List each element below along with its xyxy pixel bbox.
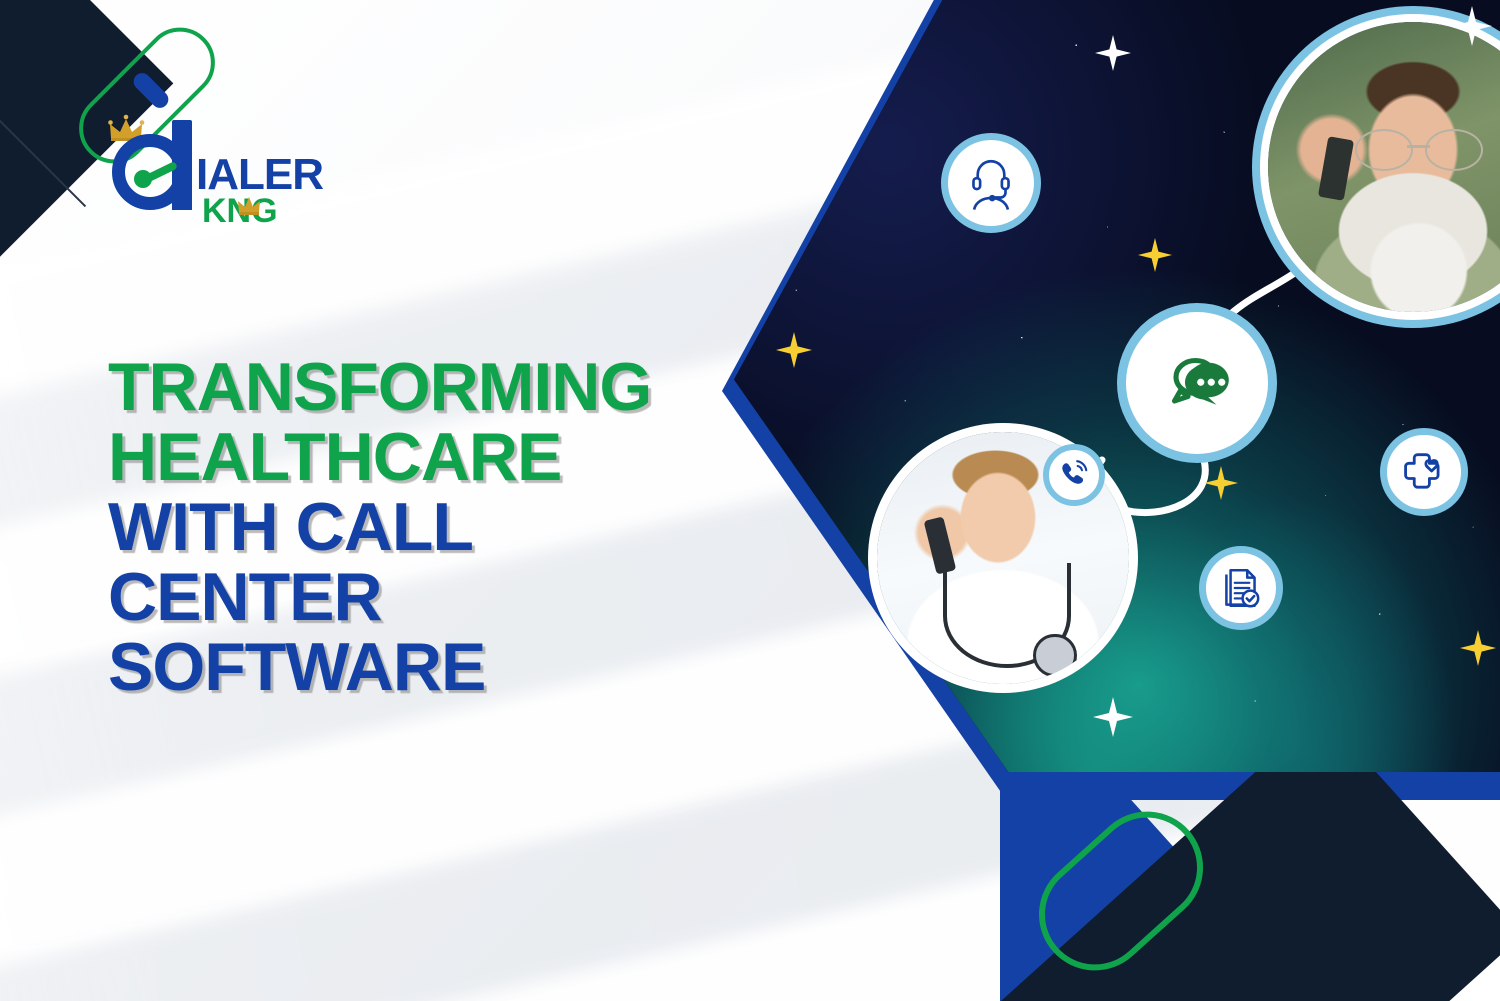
ringing-phone-glyph (1057, 458, 1091, 492)
marketing-banner: IALER KNG TRANSFORMING HEALTHCARE WITH C… (0, 0, 1500, 1001)
headset-agent-glyph (962, 154, 1020, 212)
eyeglasses (1355, 129, 1483, 167)
headline-line-1: TRANSFORMING (108, 352, 748, 422)
sparkle-white-icon (1093, 697, 1133, 737)
ringing-phone-icon (1043, 444, 1105, 506)
chat-bubbles-icon (1117, 303, 1277, 463)
page-title: TRANSFORMING HEALTHCARE WITH CALL CENTER… (108, 352, 748, 702)
medical-cross-heart-icon (1380, 428, 1468, 516)
sparkle-white-icon (1452, 6, 1492, 46)
chat-bubbles-glyph (1149, 335, 1245, 431)
sparkle-white-icon (1095, 35, 1131, 71)
sparkle-yellow-icon (1460, 630, 1496, 666)
document-check-icon (1199, 546, 1283, 630)
sparkle-yellow-icon (1204, 466, 1238, 500)
headline-line-4: CENTER (108, 562, 748, 632)
headline-line-3: WITH CALL (108, 492, 748, 562)
medical-cross-heart-glyph (1398, 446, 1450, 498)
sparkle-yellow-icon (1138, 238, 1172, 272)
logo-dialer-king[interactable]: IALER KNG (100, 112, 330, 230)
crown-icon (236, 192, 262, 218)
headset-agent-icon (941, 133, 1041, 233)
logo-dot (134, 170, 152, 188)
headline-line-2: HEALTHCARE (108, 422, 748, 492)
mobile-phone-prop (1318, 136, 1354, 200)
headline-line-5: SOFTWARE (108, 632, 748, 702)
sparkle-yellow-icon (776, 332, 812, 368)
stethoscope-chestpiece (1033, 634, 1077, 678)
document-check-glyph (1216, 563, 1266, 613)
